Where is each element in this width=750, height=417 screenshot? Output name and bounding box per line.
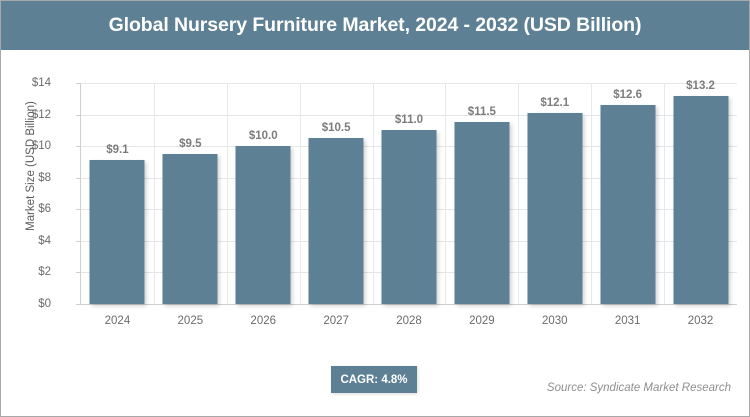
bar-value-label: $12.6 <box>613 89 642 101</box>
bar-group: $12.1 <box>518 83 591 304</box>
source-note: Source: Syndicate Market Research <box>547 382 731 394</box>
x-axis-tick-label: 2027 <box>323 315 349 327</box>
y-axis-tick-label: $14 <box>5 77 51 89</box>
y-axis-tick-label: $8 <box>5 172 51 184</box>
bar <box>600 105 655 304</box>
chart-card: Global Nursery Furniture Market, 2024 - … <box>0 0 750 417</box>
x-axis-tick-label: 2032 <box>688 315 714 327</box>
x-axis-tick-label: 2030 <box>542 315 568 327</box>
chart-header: Global Nursery Furniture Market, 2024 - … <box>1 1 749 50</box>
bar-value-label: $11.5 <box>468 106 496 118</box>
bar <box>309 138 364 304</box>
y-axis-tick-label: $2 <box>5 266 51 278</box>
x-axis-tick-label: 2029 <box>469 315 495 327</box>
y-axis-tick-label: $10 <box>5 140 51 152</box>
bar <box>673 96 728 304</box>
plot-area: $0$2$4$6$8$10$12$14 $9.1$9.5$10.0$10.5$1… <box>80 83 737 305</box>
y-axis-tick-label: $12 <box>5 109 51 121</box>
chart-body: Market Size (USD Billion) $0$2$4$6$8$10$… <box>1 50 749 416</box>
x-axis-tick-label: 2025 <box>178 315 204 327</box>
bar-value-label: $9.5 <box>179 138 201 150</box>
bar <box>454 122 509 304</box>
bar <box>381 130 436 304</box>
y-axis-tick-label: $4 <box>5 235 51 247</box>
bar-value-label: $10.5 <box>322 122 351 134</box>
bar <box>527 113 582 304</box>
bar <box>236 146 291 304</box>
bar-group: $11.5 <box>445 83 518 304</box>
bar-group: $12.6 <box>591 83 664 304</box>
bar-value-label: $12.1 <box>540 97 569 109</box>
cagr-badge: CAGR: 4.8% <box>331 366 417 393</box>
bar-group: $9.1 <box>81 83 154 304</box>
bar-group: $11.0 <box>373 83 446 304</box>
y-axis-tick-mark <box>76 304 81 305</box>
bar-value-label: $11.0 <box>395 114 423 126</box>
bar-group: $9.5 <box>154 83 227 304</box>
x-axis-tick-label: 2031 <box>615 315 641 327</box>
gridline <box>81 304 737 305</box>
x-axis-tick-label: 2026 <box>250 315 276 327</box>
y-axis-tick-label: $6 <box>5 203 51 215</box>
bar-value-label: $13.2 <box>686 80 715 92</box>
bar-value-label: $10.0 <box>249 130 278 142</box>
y-axis-tick-label: $0 <box>5 298 51 310</box>
bar-group: $10.0 <box>227 83 300 304</box>
page-title: Global Nursery Furniture Market, 2024 - … <box>109 14 642 37</box>
x-axis-tick-label: 2024 <box>105 315 131 327</box>
bar-group: $10.5 <box>300 83 373 304</box>
bar <box>163 154 218 304</box>
bar-series: $9.1$9.5$10.0$10.5$11.0$11.5$12.1$12.6$1… <box>81 83 737 304</box>
bar <box>90 160 145 304</box>
bar-group: $13.2 <box>664 83 737 304</box>
x-axis-tick-label: 2028 <box>396 315 422 327</box>
bar-value-label: $9.1 <box>106 144 128 156</box>
